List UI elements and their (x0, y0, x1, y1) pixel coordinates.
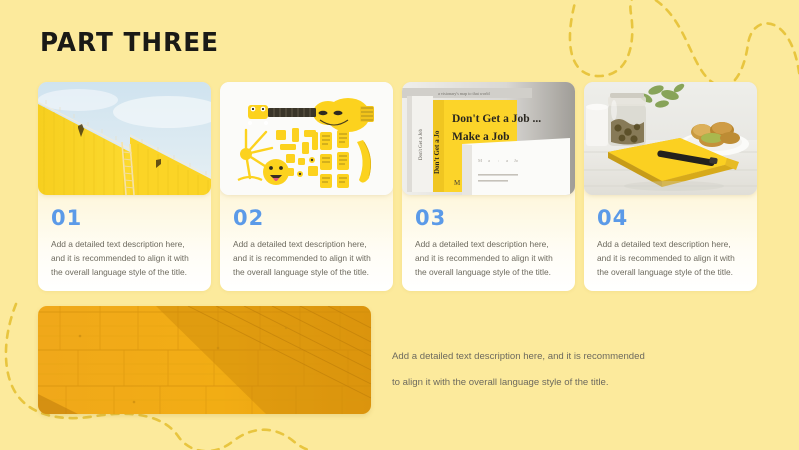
card-number: 01 (51, 206, 211, 230)
card-description: Add a detailed text description here, an… (415, 237, 562, 280)
bottom-description-line-2: to align it with the overall language st… (392, 370, 722, 396)
yellow-book-dont-get-a-job-photo: a visionary's map to that world Don't Ge… (402, 82, 575, 195)
card-number: 03 (415, 206, 575, 230)
card-description: Add a detailed text description here, an… (597, 237, 744, 280)
feature-card[interactable]: 01 Add a detailed text description here,… (38, 82, 211, 291)
bottom-description: Add a detailed text description here, an… (392, 344, 722, 396)
card-number: 04 (597, 206, 757, 230)
card-number: 02 (233, 206, 393, 230)
feature-card[interactable]: 04 Add a detailed text description here,… (584, 82, 757, 291)
yellow-corrugated-wall-with-ladder-photo (38, 82, 211, 195)
yellow-objects-flatlay-photo (220, 82, 393, 195)
card-description: Add a detailed text description here, an… (233, 237, 380, 280)
bottom-description-line-1: Add a detailed text description here, an… (392, 344, 722, 370)
feature-card[interactable]: a visionary's map to that world Don't Ge… (402, 82, 575, 291)
card-grid: 01 Add a detailed text description here,… (38, 82, 761, 291)
dashed-squiggle-top-right-icon (563, 0, 799, 84)
page-title: PART THREE (40, 28, 219, 58)
card-description: Add a detailed text description here, an… (51, 237, 198, 280)
feature-card[interactable]: 02 Add a detailed text description here,… (220, 82, 393, 291)
yellow-notebook-pen-desk-photo (584, 82, 757, 195)
yellow-wooden-planks-photo (38, 306, 371, 414)
slide-canvas: PART THREE (0, 0, 799, 450)
